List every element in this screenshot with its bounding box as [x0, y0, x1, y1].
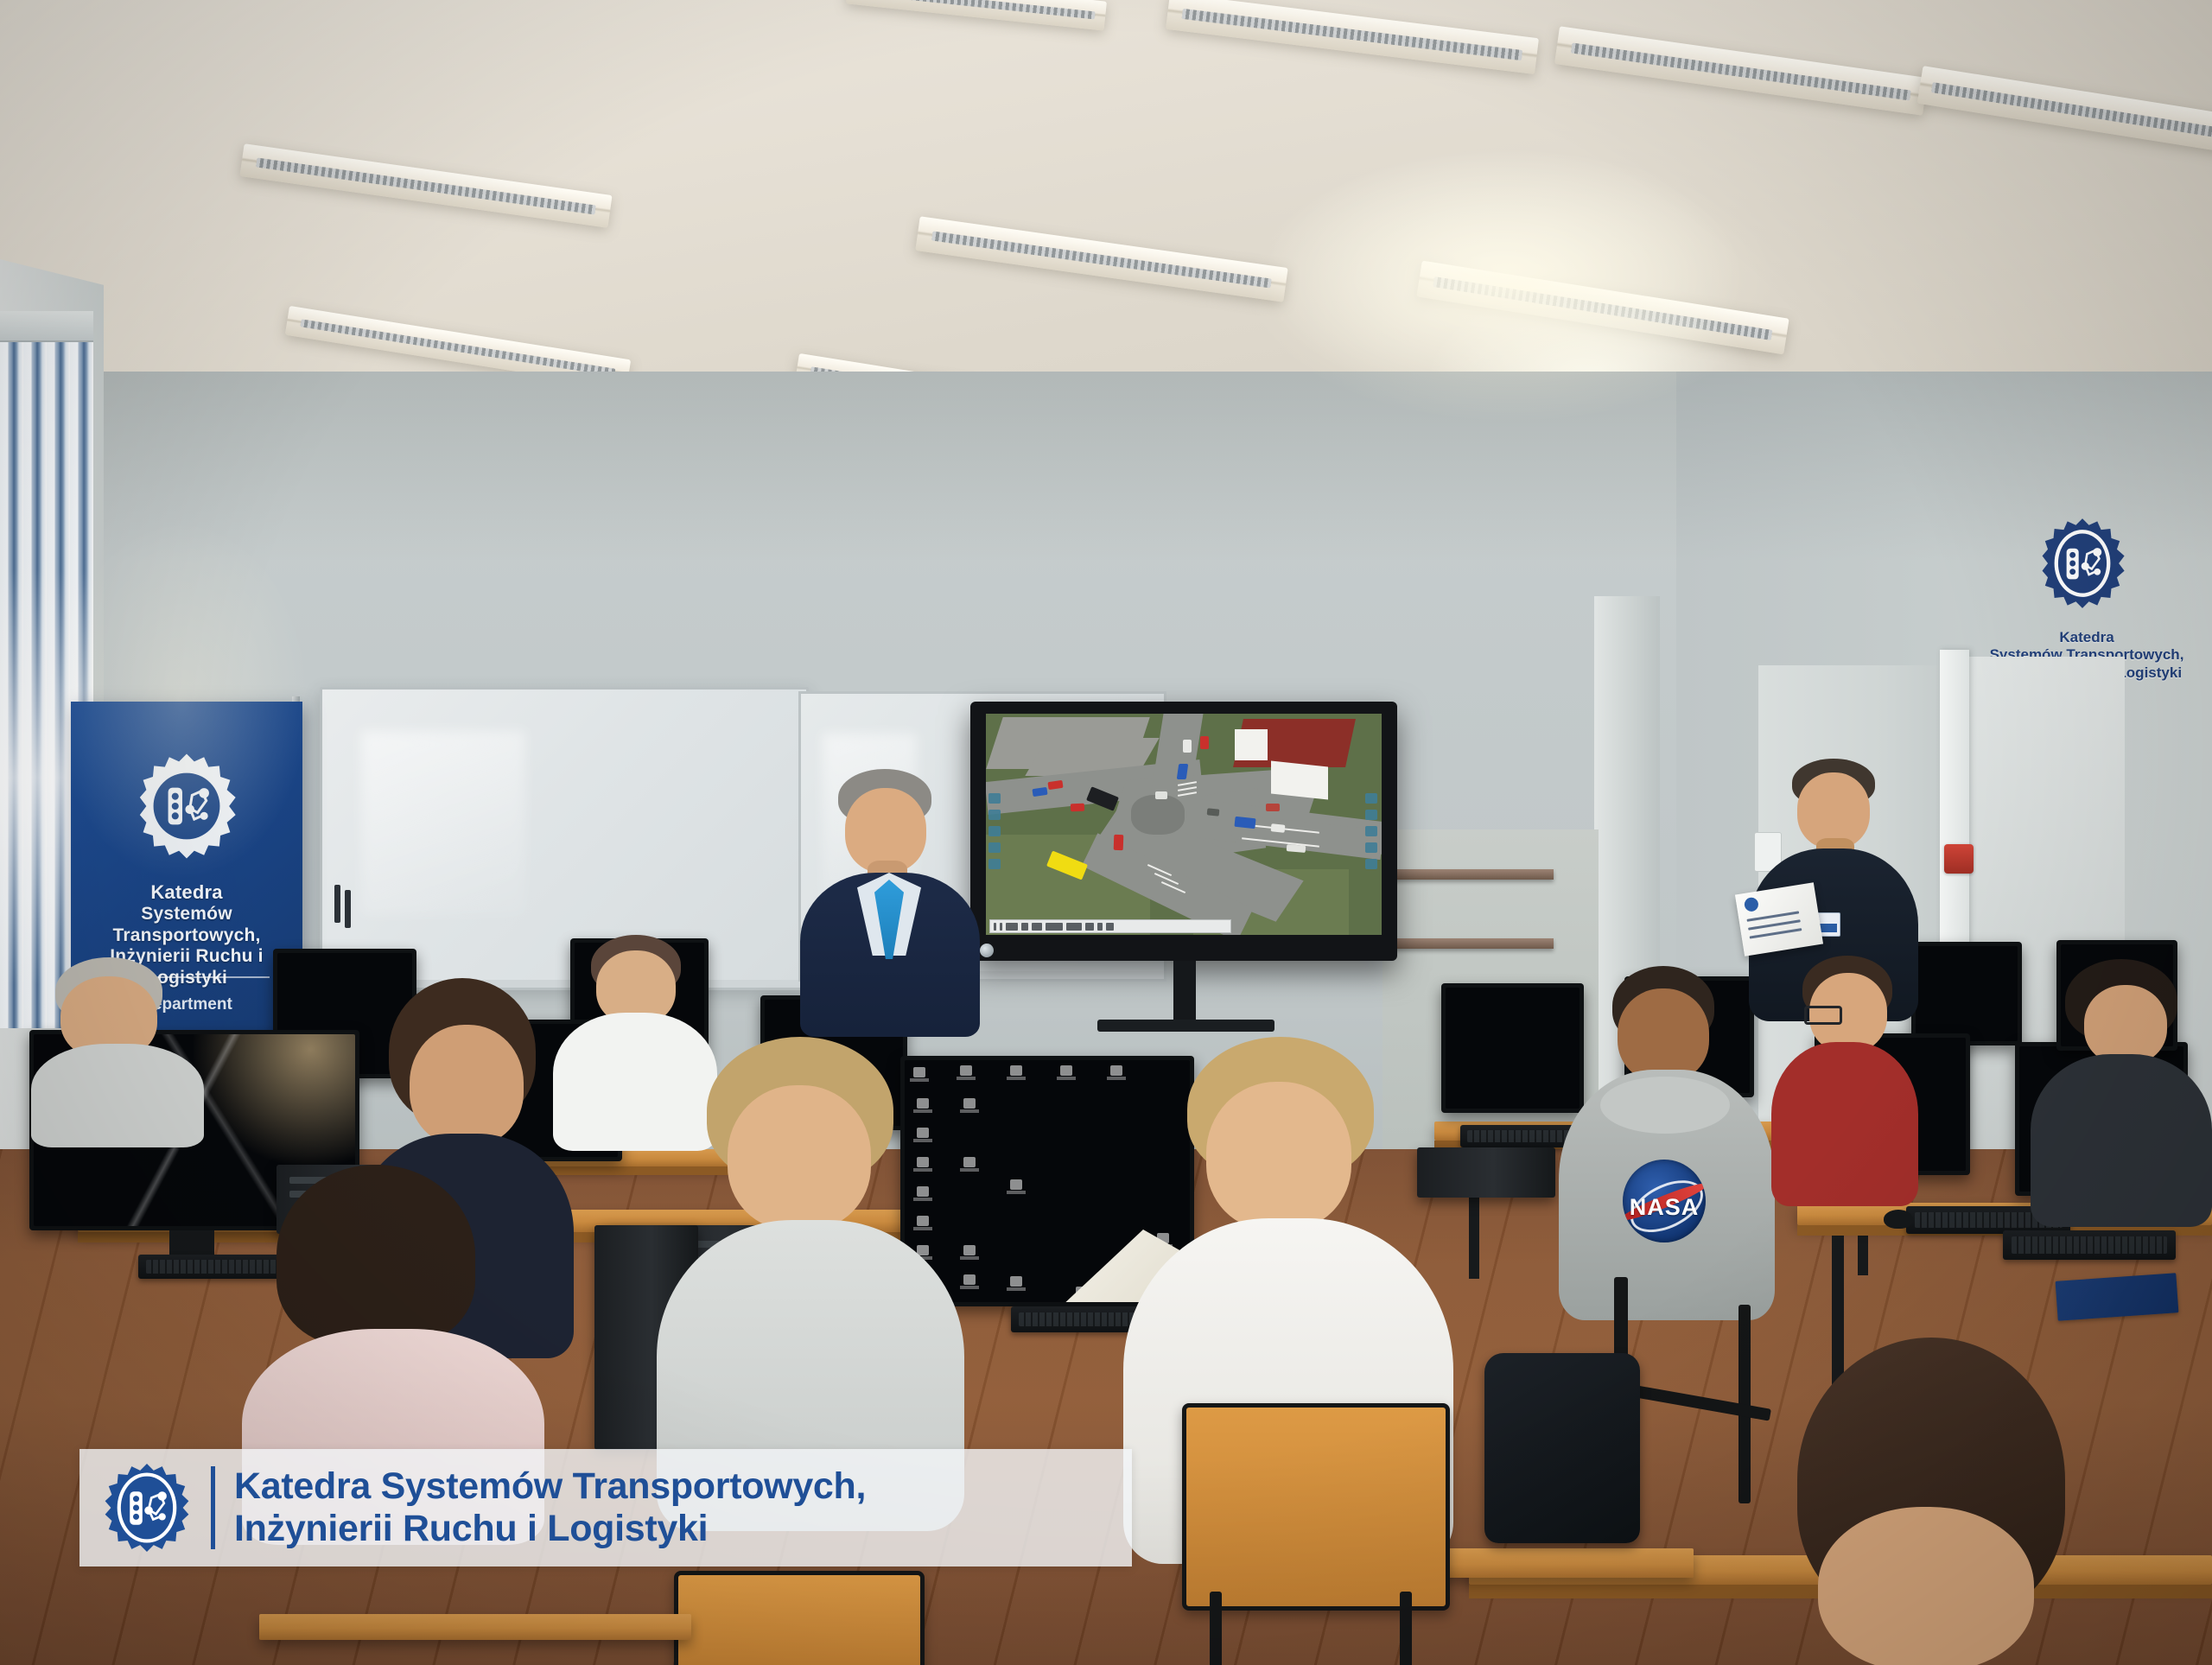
wall-ceiling-shadow — [0, 372, 2212, 562]
student-grey-shirt-foreground — [657, 1037, 959, 1521]
torso — [1771, 1042, 1918, 1206]
whiteboard-marker[interactable] — [334, 885, 340, 923]
ceiling-light-1 — [846, 0, 1107, 31]
simulation-player-controls[interactable] — [989, 919, 1231, 933]
student-foreground-bottom-right — [1797, 1338, 2082, 1665]
monitor-back-right-1[interactable] — [1441, 983, 1584, 1113]
vehicle-car-red-3 — [1114, 835, 1124, 850]
ceiling-light-3 — [1554, 26, 1928, 115]
classroom-photo-scene: Katedra Systemów Transportowych, Inżynie… — [0, 0, 2212, 1665]
ceiling-light-2 — [1166, 0, 1539, 74]
table-bottom-left — [259, 1614, 691, 1640]
watermark-logo-icon — [102, 1463, 192, 1553]
vehicle-car-white-2 — [1155, 791, 1167, 799]
whiteboard-marker[interactable] — [345, 890, 351, 928]
blinds-headrail — [0, 311, 93, 342]
student-red-shirt — [1771, 956, 1918, 1198]
ceiling-light-4 — [1917, 66, 2212, 152]
head — [410, 1025, 524, 1146]
head — [2084, 985, 2167, 1064]
white-panel-building — [1235, 729, 1268, 760]
older-man-back-left — [31, 957, 204, 1113]
presenter-in-suit — [804, 769, 976, 1028]
wall-logo-icon — [2035, 517, 2130, 610]
monitor-screen[interactable] — [1446, 988, 1580, 1109]
aerial-intersection-simulation — [986, 714, 1382, 935]
chair-foreground-center[interactable] — [1182, 1403, 1450, 1611]
ceiling-light-5 — [239, 143, 612, 227]
handout-papers[interactable] — [1735, 882, 1823, 956]
monitor-stand — [169, 1230, 214, 1255]
monitor-back-right-3[interactable] — [1911, 942, 2022, 1045]
vehicle-car-dark — [1207, 808, 1220, 816]
display-stand-column — [1173, 961, 1196, 1023]
shelf-lower — [1389, 938, 1554, 949]
keyboard-right-row-3[interactable] — [2003, 1230, 2176, 1260]
vehicle-car-red-4 — [1200, 736, 1209, 749]
watermark-banner: Katedra Systemów Transportowych, Inżynie… — [79, 1449, 1132, 1566]
head — [1618, 988, 1709, 1082]
hair — [276, 1165, 475, 1346]
vehicle-car-white-3 — [1271, 823, 1286, 833]
head — [728, 1085, 871, 1230]
emergency-call-point[interactable] — [1944, 844, 1974, 874]
white-panel-building-2 — [1271, 761, 1328, 800]
chair-foreground-left[interactable] — [674, 1571, 925, 1665]
sim-tool-sidebar-left[interactable] — [988, 793, 1002, 875]
nasa-logo-icon: NASA — [1623, 1160, 1706, 1242]
watermark-divider — [211, 1466, 215, 1549]
glasses-icon — [1804, 1006, 1842, 1025]
display-stand-base — [1097, 1020, 1274, 1032]
head — [1797, 772, 1870, 848]
torso — [2031, 1054, 2212, 1227]
student-nasa-hoodie: NASA — [1564, 966, 1771, 1312]
display-screen[interactable] — [986, 714, 1382, 935]
ceiling-light-7 — [1416, 261, 1789, 355]
vehicle-car-white — [1183, 740, 1192, 753]
interactive-display[interactable] — [970, 702, 1397, 961]
student-dark-hair-right — [2039, 959, 2203, 1210]
watermark-text: Katedra Systemów Transportowych, Inżynie… — [234, 1465, 866, 1550]
vehicle-car-red-2 — [1071, 804, 1084, 812]
head — [1818, 1507, 2034, 1665]
ceiling-light-6 — [915, 216, 1287, 302]
vehicle-car-red-5 — [1266, 804, 1280, 811]
head — [1206, 1082, 1351, 1230]
brochure-on-table[interactable] — [2056, 1273, 2179, 1321]
hood — [1600, 1077, 1730, 1134]
monitor-screen[interactable] — [1916, 946, 2018, 1041]
vehicle-car-blue-3 — [1234, 817, 1255, 829]
mouse-right-row[interactable] — [1884, 1210, 1913, 1229]
rollup-logo-icon — [132, 752, 241, 861]
sim-tool-sidebar-right[interactable] — [1365, 793, 1379, 875]
shelf-upper — [1389, 869, 1554, 880]
torso — [31, 1044, 204, 1147]
backpack-on-floor[interactable] — [1484, 1353, 1640, 1543]
display-power-indicator — [980, 944, 994, 957]
